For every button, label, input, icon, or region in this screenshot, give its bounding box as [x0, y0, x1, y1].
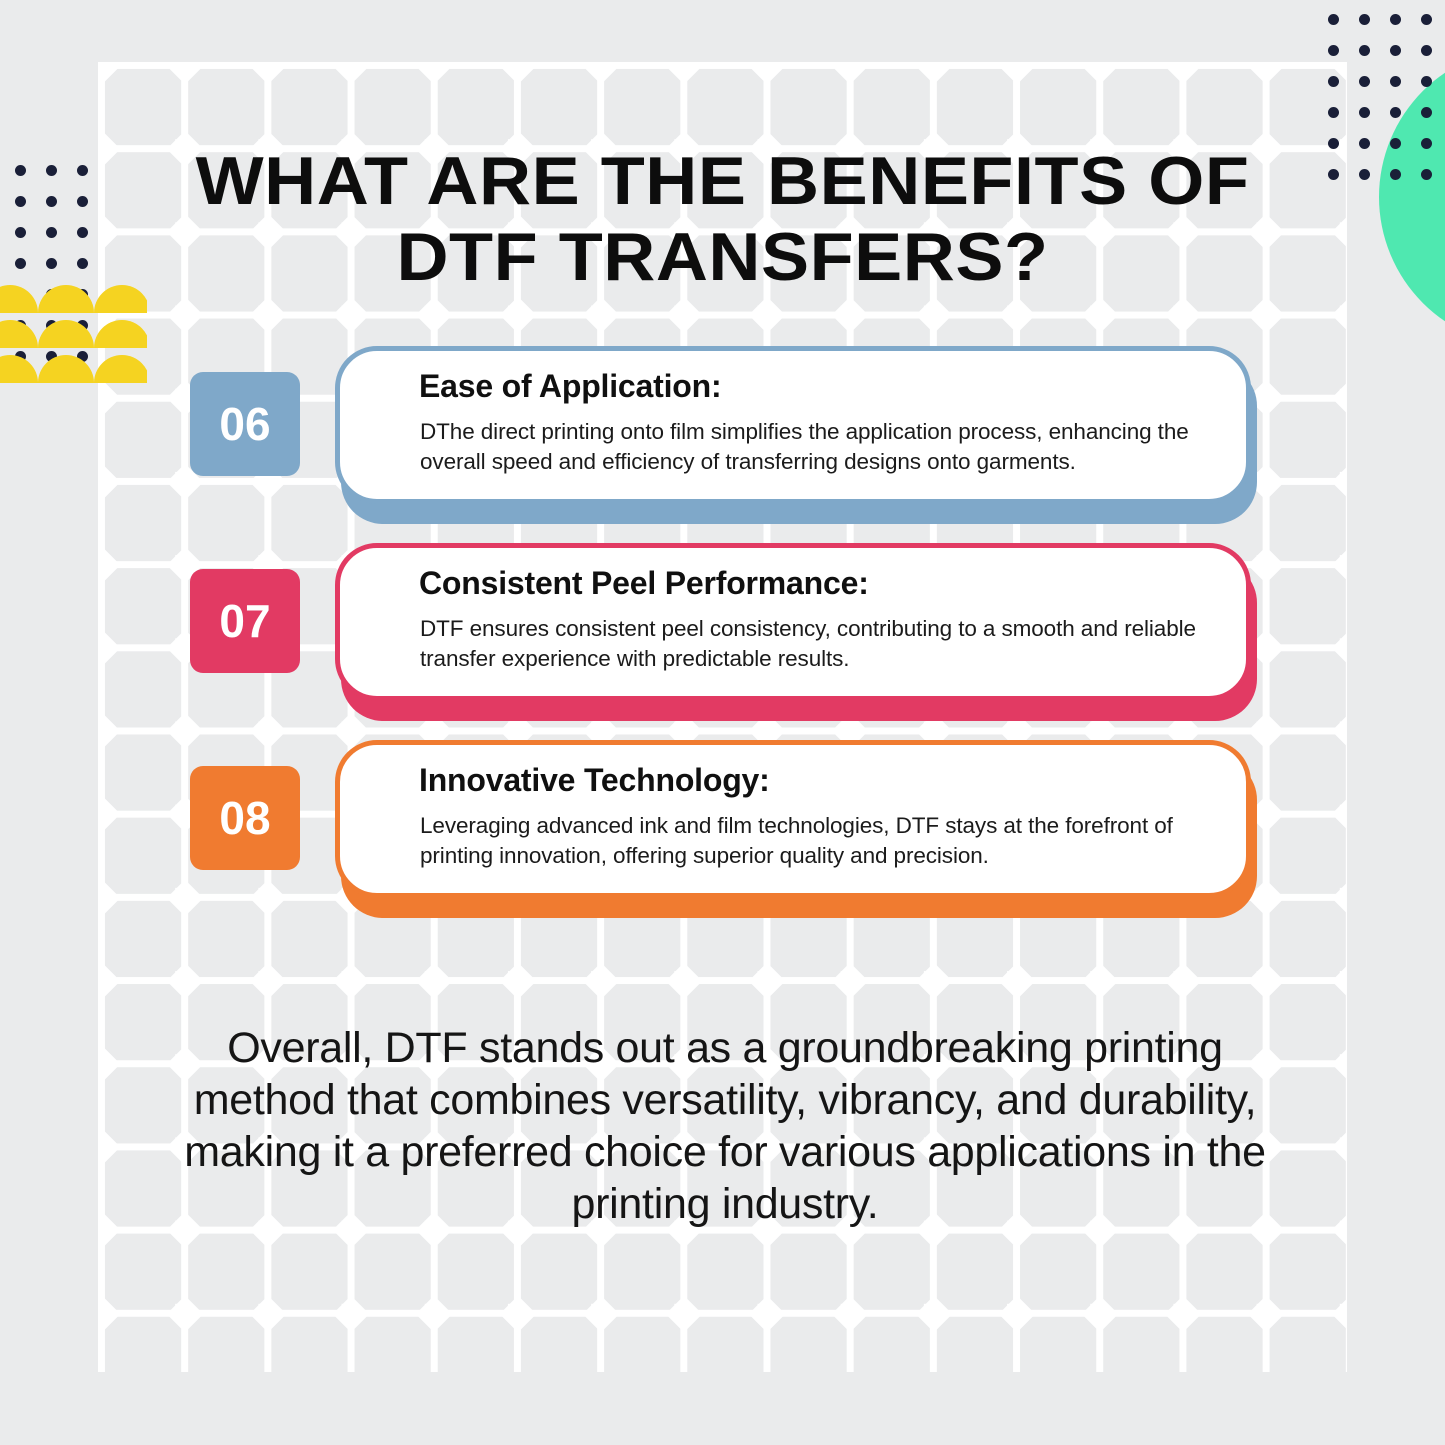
grid-node [832, 297, 869, 334]
grid-node [1331, 1212, 1347, 1249]
yellow-semicircle [0, 355, 38, 383]
decorative-dot [1328, 138, 1339, 149]
grid-node [915, 1295, 952, 1332]
decorative-dot [1359, 76, 1370, 87]
decorative-dot [77, 196, 88, 207]
grid-node [1165, 962, 1202, 999]
grid-node [666, 62, 703, 84]
grid-node [98, 1212, 120, 1249]
yellow-semicircle [38, 320, 94, 348]
summary-paragraph: Overall, DTF stands out as a groundbreak… [170, 1022, 1280, 1230]
grid-node [1331, 962, 1347, 999]
decorative-dot [77, 227, 88, 238]
decorative-dot [1390, 45, 1401, 56]
card-body-text: Leveraging advanced ink and film technol… [420, 811, 1230, 871]
grid-node [749, 62, 786, 84]
grid-node [666, 297, 703, 334]
yellow-semicircle [94, 320, 147, 348]
grid-node [166, 879, 203, 916]
yellow-semicircle [0, 320, 38, 348]
grid-node [1248, 546, 1285, 583]
decorative-dot [1421, 169, 1432, 180]
decorative-dot [1421, 14, 1432, 25]
grid-node [250, 962, 287, 999]
grid-node [915, 962, 952, 999]
item-number-badge: 08 [190, 766, 300, 870]
grid-node [1248, 1295, 1285, 1332]
card-heading: Innovative Technology: [419, 762, 770, 799]
decorative-dot [1359, 14, 1370, 25]
grid-node [98, 463, 120, 500]
decorative-dot [77, 258, 88, 269]
grid-node [416, 62, 453, 84]
benefit-card[interactable]: Ease of Application: DThe direct printin… [335, 346, 1251, 511]
grid-node [582, 962, 619, 999]
decorative-dot [1390, 107, 1401, 118]
grid-node [499, 297, 536, 334]
grid-node [998, 297, 1035, 334]
grid-node [1248, 62, 1285, 84]
grid-node [1331, 1295, 1347, 1332]
decorative-dot [1421, 76, 1432, 87]
grid-node [1248, 297, 1285, 334]
grid-node [749, 962, 786, 999]
grid-node [1331, 630, 1347, 667]
grid-node [582, 62, 619, 84]
grid-node [250, 879, 287, 916]
grid-node [998, 962, 1035, 999]
grid-node [1331, 879, 1347, 916]
grid-node [416, 1295, 453, 1332]
page-title: WHAT ARE THE BENEFITS OF DTF TRANSFERS? [137, 143, 1308, 295]
dot-grid-decoration-top-right [1328, 14, 1445, 189]
decorative-dot [1421, 45, 1432, 56]
grid-node [832, 62, 869, 84]
decorative-dot [1359, 169, 1370, 180]
grid-node [1165, 297, 1202, 334]
grid-node [998, 62, 1035, 84]
decorative-dot [1390, 169, 1401, 180]
item-number-badge: 07 [190, 569, 300, 673]
decorative-dot [1421, 138, 1432, 149]
grid-node [333, 62, 370, 84]
card-heading: Consistent Peel Performance: [419, 565, 869, 602]
grid-node [98, 879, 120, 916]
decorative-dot [46, 258, 57, 269]
card-surface: Consistent Peel Performance: DTF ensures… [335, 543, 1251, 701]
card-heading: Ease of Application: [419, 368, 721, 405]
decorative-dot [1328, 169, 1339, 180]
grid-node [1082, 1295, 1119, 1332]
grid-node [333, 962, 370, 999]
grid-node [166, 1295, 203, 1332]
infographic-canvas: WHAT ARE THE BENEFITS OF DTF TRANSFERS? … [0, 0, 1445, 1445]
decorative-dot [46, 165, 57, 176]
grid-node [166, 297, 203, 334]
grid-node [1331, 214, 1347, 251]
grid-node [1331, 796, 1347, 833]
decorative-dot [15, 258, 26, 269]
item-number-badge: 06 [190, 372, 300, 476]
grid-node [166, 62, 203, 84]
grid-node [832, 1295, 869, 1332]
decorative-dot [1328, 14, 1339, 25]
grid-node [98, 1295, 120, 1332]
grid-node [416, 962, 453, 999]
decorative-dot [15, 196, 26, 207]
grid-node [499, 1295, 536, 1332]
grid-node [582, 297, 619, 334]
yellow-semicircle [38, 355, 94, 383]
card-body-text: DThe direct printing onto film simplifie… [420, 417, 1230, 477]
grid-node [98, 130, 120, 167]
decorative-dot [1328, 45, 1339, 56]
grid-node [416, 297, 453, 334]
decorative-dot [1359, 45, 1370, 56]
grid-node [98, 62, 120, 84]
grid-node [1331, 463, 1347, 500]
grid-node [250, 297, 287, 334]
grid-node [915, 62, 952, 84]
grid-node [1082, 297, 1119, 334]
yellow-semicircle [0, 285, 38, 313]
decorative-dot [46, 227, 57, 238]
grid-node [1331, 713, 1347, 750]
decorative-dot [77, 165, 88, 176]
grid-node [915, 297, 952, 334]
decorative-dot [1328, 76, 1339, 87]
decorative-dot [1390, 138, 1401, 149]
grid-node [1165, 1295, 1202, 1332]
grid-node [499, 962, 536, 999]
grid-node [1331, 380, 1347, 417]
card-body-text: DTF ensures consistent peel consistency,… [420, 614, 1230, 674]
yellow-semicircle [94, 355, 147, 383]
grid-node [166, 713, 203, 750]
grid-node [832, 962, 869, 999]
grid-node [998, 1295, 1035, 1332]
grid-node [749, 297, 786, 334]
grid-node [1248, 962, 1285, 999]
grid-node [250, 62, 287, 84]
grid-node [98, 546, 120, 583]
grid-node [98, 1129, 120, 1166]
grid-node [1082, 62, 1119, 84]
decorative-dot [46, 196, 57, 207]
grid-node [499, 62, 536, 84]
decorative-dot [1421, 107, 1432, 118]
grid-node [1331, 1129, 1347, 1166]
benefit-card[interactable]: Innovative Technology: Leveraging advanc… [335, 740, 1251, 905]
grid-node [666, 1295, 703, 1332]
decorative-dot [1390, 14, 1401, 25]
benefit-card[interactable]: Consistent Peel Performance: DTF ensures… [335, 543, 1251, 708]
decorative-dot [15, 227, 26, 238]
grid-node [333, 297, 370, 334]
grid-node [1331, 546, 1347, 583]
decorative-dot [15, 165, 26, 176]
grid-node [1331, 297, 1347, 334]
decorative-dot [1359, 138, 1370, 149]
decorative-dot [1328, 107, 1339, 118]
grid-node [98, 796, 120, 833]
grid-node [749, 1295, 786, 1332]
yellow-semicircle-decoration [0, 285, 147, 390]
grid-node [98, 713, 120, 750]
grid-node [582, 1295, 619, 1332]
grid-node [250, 1295, 287, 1332]
grid-node [1165, 62, 1202, 84]
card-surface: Ease of Application: DThe direct printin… [335, 346, 1251, 504]
grid-node [166, 962, 203, 999]
grid-node [1331, 1046, 1347, 1083]
grid-node [1248, 713, 1285, 750]
card-surface: Innovative Technology: Leveraging advanc… [335, 740, 1251, 898]
grid-node [666, 962, 703, 999]
decorative-dot [1359, 107, 1370, 118]
grid-node [1082, 962, 1119, 999]
grid-node [333, 1295, 370, 1332]
yellow-semicircle [38, 285, 94, 313]
grid-node [98, 630, 120, 667]
decorative-dot [1390, 76, 1401, 87]
grid-node [98, 962, 120, 999]
grid-node [98, 1046, 120, 1083]
grid-node [250, 713, 287, 750]
